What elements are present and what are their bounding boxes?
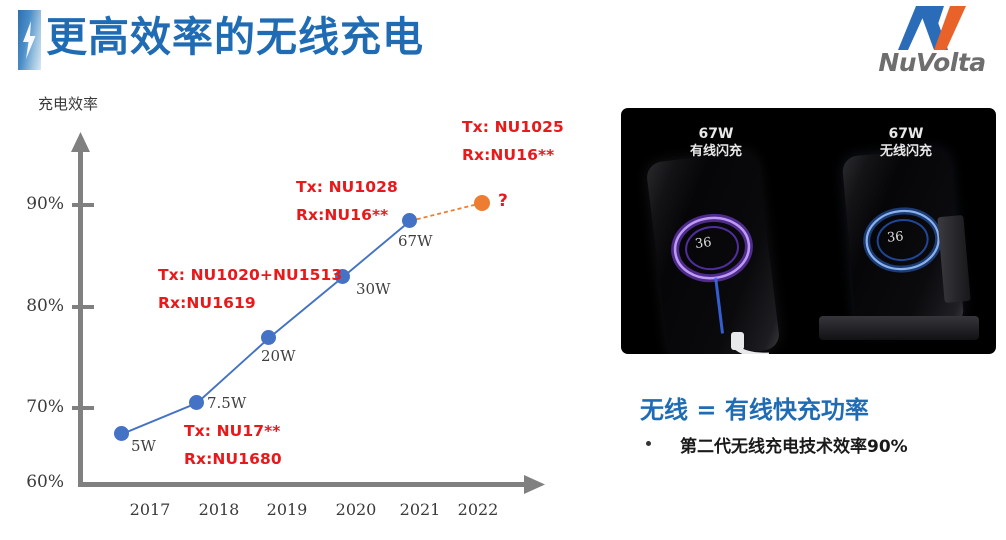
wireless-percent: 36 [886,229,904,245]
data-label-30w: 30W [356,280,391,298]
wireless-watt: 67W [851,126,961,143]
wired-mode: 有线闪充 [690,144,742,159]
wireless-mode: 无线闪充 [880,144,932,159]
nuvolta-nv-logo-icon [898,4,970,52]
data-point-20w[interactable] [261,330,276,345]
annotation-2019-rx: Rx:NU1619 [158,294,256,312]
usb-cable-icon [717,330,777,354]
wired-percent: 36 [694,235,712,252]
annotation-2018-tx: Tx: NU17** [184,422,281,440]
annotation-2022-rx: Rx:NU16** [462,146,554,164]
right-panel-bullet-text: 第二代无线充电技术效率90% [680,432,908,457]
logo-wordmark: NuVolta [864,48,1000,77]
wireless-vs-wired-charging-photo: 36 67W 有线闪充 36 67W 无线闪充 [621,108,996,354]
series-line-forecast [410,203,482,221]
data-label-20w: 20W [261,347,296,365]
wired-watt: 67W [661,126,771,143]
annotation-2021-tx: Tx: NU1028 [296,178,398,196]
series-line-achieved [122,221,410,434]
wired-charging-glow-icon [657,156,787,354]
annotation-2021-rx: Rx:NU16** [296,206,388,224]
data-label-forecast-unknown: ? [498,191,508,211]
charging-stand-base [819,316,979,340]
data-point-67w[interactable] [402,213,417,228]
nuvolta-logo: NuVolta [864,4,1000,82]
data-point-forecast-2022[interactable] [474,195,490,211]
lightning-bolt-icon [18,10,41,70]
data-label-5w: 5W [131,437,156,455]
wired-caption: 67W 有线闪充 [661,126,771,160]
annotation-2018-rx: Rx:NU1680 [184,450,282,468]
data-label-67w: 67W [398,232,433,250]
data-label-7-5w: 7.5W [207,394,246,412]
data-point-7-5w[interactable] [189,395,204,410]
page-title: 更高效率的无线充电 [46,10,424,64]
annotation-2019-tx: Tx: NU1020+NU1513 [158,266,342,284]
bullet-point-icon [646,441,651,446]
right-panel-heading: 无线 = 有线快充功率 [640,390,869,425]
bolt-glyph-icon [20,20,39,60]
wireless-caption: 67W 无线闪充 [851,126,961,160]
slide-root: 更高效率的无线充电 NuVolta 充电效率 90% 80% 70% 60% [0,0,1006,540]
efficiency-line-chart: 充电效率 90% 80% 70% 60% 2017 2018 2019 2020… [0,82,580,540]
data-point-5w[interactable] [114,426,129,441]
annotation-2022-tx: Tx: NU1025 [462,118,564,136]
